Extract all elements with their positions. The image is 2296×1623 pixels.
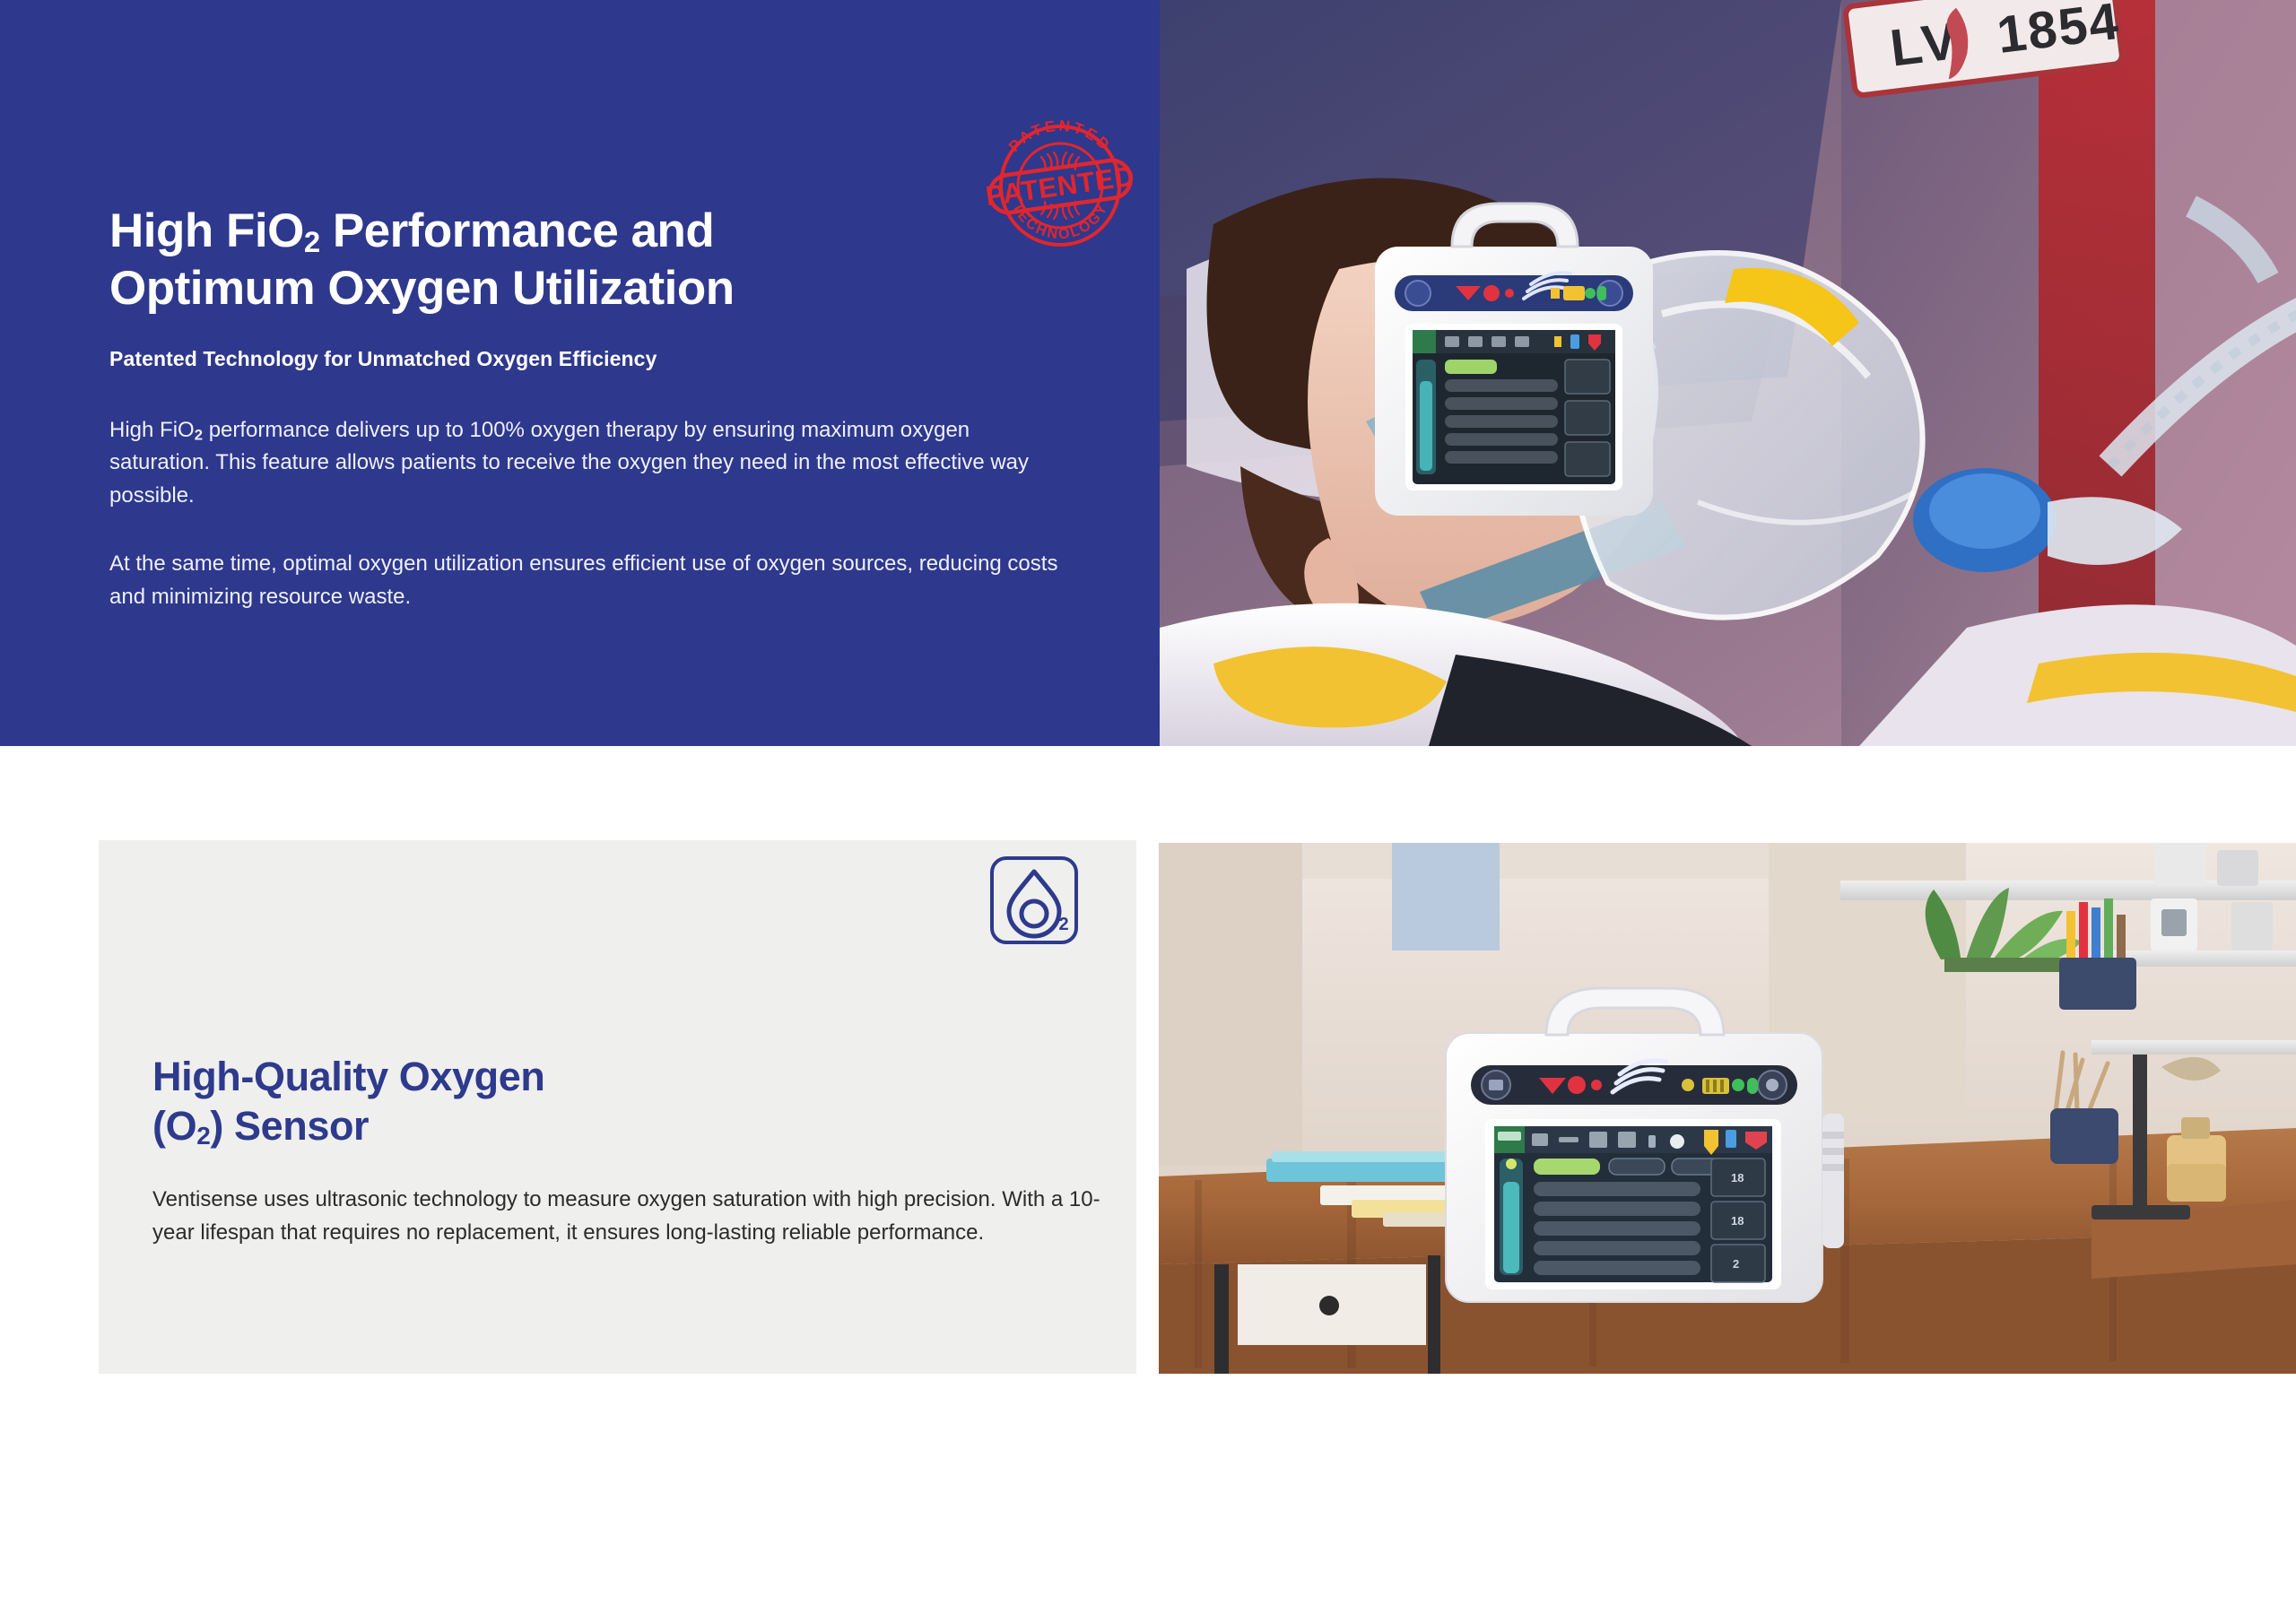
feature-title-line1: High-Quality Oxygen (152, 1054, 544, 1099)
feature-section: 2 High-Quality Oxygen (O2) Sensor Ventis… (0, 840, 2296, 1378)
ventilator-on-desk-photo: 18182 (1159, 843, 2296, 1374)
page-title-subscript: 2 (304, 224, 320, 257)
hero-paragraph-1-subscript: 2 (195, 427, 203, 444)
svg-text:PATENTED: PATENTED (1005, 117, 1115, 155)
patient-oxygen-mask-photo: LV 1854 (1160, 0, 2296, 746)
feature-body-copy: Ventisense uses ultrasonic technology to… (152, 1183, 1103, 1249)
stamp-arc-top-text: PATENTED (1005, 117, 1115, 155)
patented-stamp-icon: PATENTED TECHNOLOGY PATENTED (984, 112, 1136, 256)
hero-paragraph-1: High FiO2 performance delivers up to 100… (109, 414, 1060, 512)
page-subtitle: Patented Technology for Unmatched Oxygen… (109, 347, 1015, 371)
hero-body-copy: High FiO2 performance delivers up to 100… (109, 414, 1060, 613)
svg-text:18: 18 (1731, 1171, 1744, 1185)
feature-title: High-Quality Oxygen (O2) Sensor (152, 1053, 906, 1151)
feature-card: 2 High-Quality Oxygen (O2) Sensor Ventis… (99, 840, 1136, 1374)
oxygen-droplet-icon-subscript: 2 (1058, 915, 1068, 934)
hero-paragraph-2: At the same time, optimal oxygen utiliza… (109, 548, 1060, 613)
page-title-line1-b: Performance and (320, 204, 715, 257)
page-title-line1-a: High FiO (109, 204, 304, 257)
svg-text:2: 2 (1733, 1257, 1739, 1271)
page-title-line2: Optimum Oxygen Utilization (109, 262, 735, 315)
hero-section: High FiO2 Performance and Optimum Oxygen… (0, 0, 2296, 746)
feature-title-line2-b: ) Sensor (210, 1103, 369, 1149)
feature-title-subscript: 2 (196, 1122, 210, 1150)
oxygen-droplet-icon: 2 (989, 855, 1079, 945)
page-title: High FiO2 Performance and Optimum Oxygen… (109, 203, 1015, 318)
feature-title-line2-a: (O (152, 1103, 196, 1149)
svg-text:18: 18 (1731, 1214, 1744, 1228)
hero-paragraph-1-b: performance delivers up to 100% oxygen t… (109, 418, 1029, 508)
hero-paragraph-1-a: High FiO (109, 418, 195, 442)
